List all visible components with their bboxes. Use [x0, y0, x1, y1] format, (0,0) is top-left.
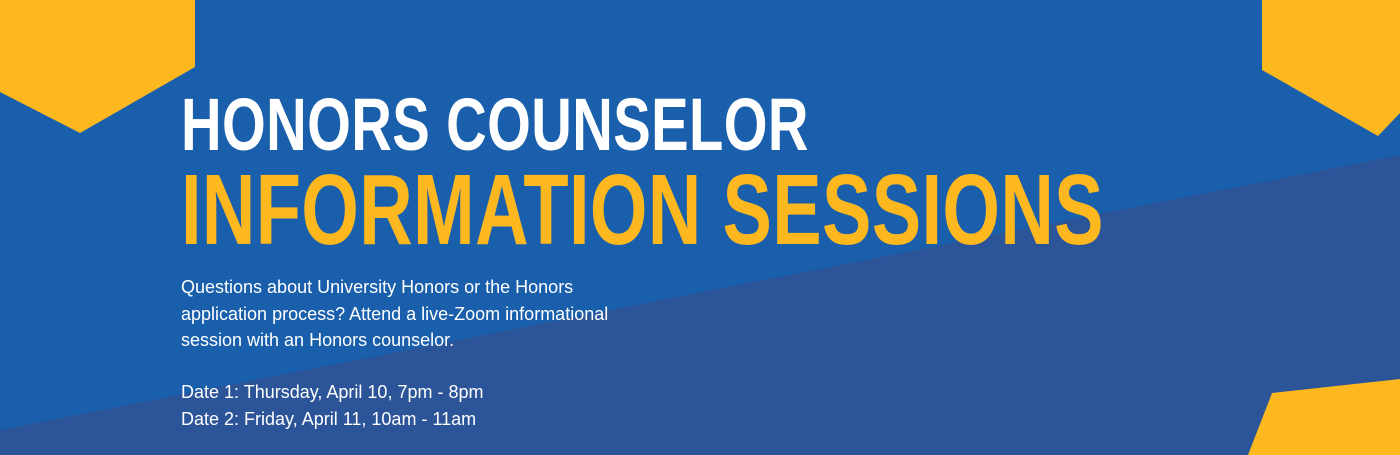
session-date-item: Date 1: Thursday, April 10, 7pm - 8pm — [181, 379, 483, 406]
honors-information-session-banner: Honors Counselor Information Sessions Qu… — [0, 0, 1400, 455]
session-date-item: Date 2: Friday, April 11, 10am - 11am — [181, 406, 483, 433]
headline-primary: Honors Counselor — [181, 88, 809, 162]
banner-content: Honors Counselor Information Sessions Qu… — [181, 0, 1001, 455]
session-dates-list: Date 1: Thursday, April 10, 7pm - 8pm Da… — [181, 379, 483, 433]
headline-secondary: Information Sessions — [181, 160, 1104, 260]
body-description: Questions about University Honors or the… — [181, 274, 611, 354]
